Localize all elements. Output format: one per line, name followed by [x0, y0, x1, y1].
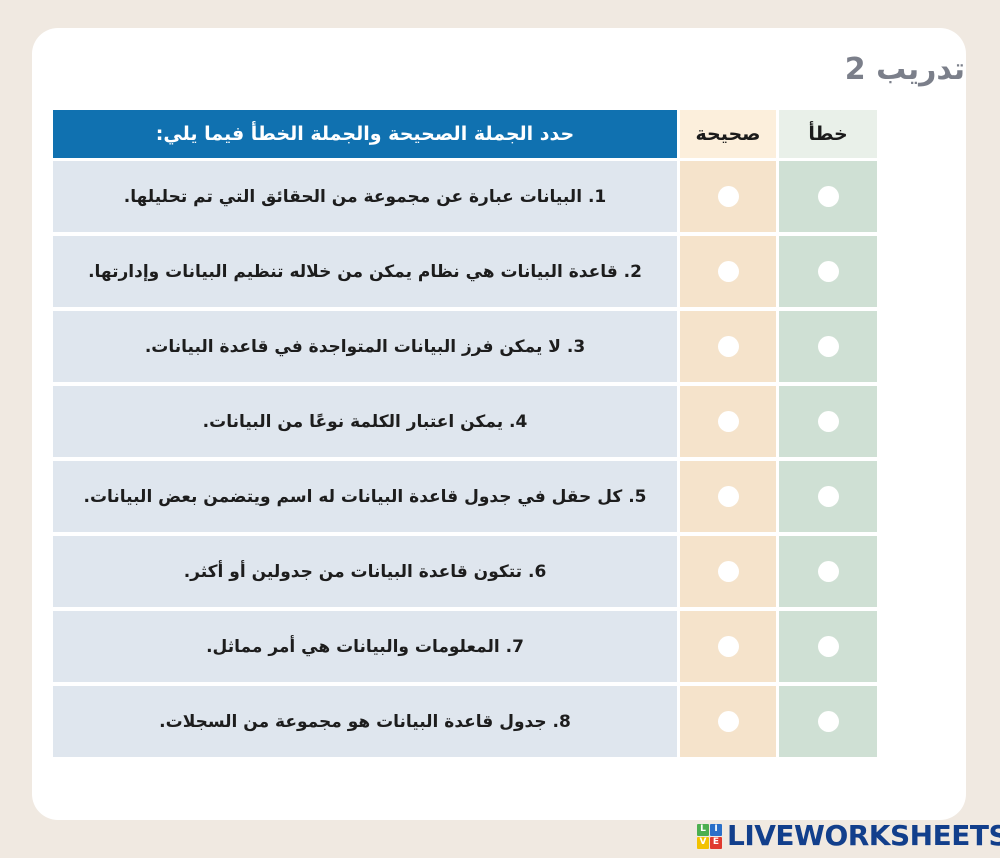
liveworksheets-logo: L I V E LIVEWORKSHEETS	[697, 822, 1000, 850]
radio-correct-7[interactable]	[718, 636, 739, 657]
correct-option-cell[interactable]	[677, 311, 776, 386]
radio-correct-1[interactable]	[718, 186, 739, 207]
radio-wrong-3[interactable]	[818, 336, 839, 357]
column-header-correct: صحيحة	[677, 110, 776, 161]
liveworksheets-logo-tiles: L I V E	[697, 824, 722, 849]
wrong-option-cell[interactable]	[776, 161, 877, 236]
table-row: 3. لا يمكن فرز البيانات المتواجدة في قاع…	[53, 311, 877, 386]
radio-correct-6[interactable]	[718, 561, 739, 582]
table-row: 6. تتكون قاعدة البيانات من جدولين أو أكث…	[53, 536, 877, 611]
radio-correct-5[interactable]	[718, 486, 739, 507]
radio-wrong-4[interactable]	[818, 411, 839, 432]
statement-text: 5. كل حقل في جدول قاعدة البيانات له اسم …	[53, 461, 677, 536]
radio-correct-2[interactable]	[718, 261, 739, 282]
table-row: 4. يمكن اعتبار الكلمة نوعًا من البيانات.	[53, 386, 877, 461]
wrong-option-cell[interactable]	[776, 386, 877, 461]
radio-wrong-6[interactable]	[818, 561, 839, 582]
wrong-option-cell[interactable]	[776, 686, 877, 761]
statements-table: خطأ صحيحة حدد الجملة الصحيحة والجملة الخ…	[53, 110, 877, 761]
logo-tile-i: I	[710, 824, 722, 836]
correct-option-cell[interactable]	[677, 611, 776, 686]
radio-wrong-7[interactable]	[818, 636, 839, 657]
table-header-row: خطأ صحيحة حدد الجملة الصحيحة والجملة الخ…	[53, 110, 877, 161]
correct-option-cell[interactable]	[677, 236, 776, 311]
table-row: 1. البيانات عبارة عن مجموعة من الحقائق ا…	[53, 161, 877, 236]
statement-text: 4. يمكن اعتبار الكلمة نوعًا من البيانات.	[53, 386, 677, 461]
radio-wrong-8[interactable]	[818, 711, 839, 732]
correct-option-cell[interactable]	[677, 386, 776, 461]
table-body: 1. البيانات عبارة عن مجموعة من الحقائق ا…	[53, 161, 877, 761]
radio-wrong-1[interactable]	[818, 186, 839, 207]
column-header-wrong: خطأ	[776, 110, 877, 161]
radio-correct-8[interactable]	[718, 711, 739, 732]
liveworksheets-wordmark: LIVEWORKSHEETS	[727, 822, 1000, 850]
page-title: تدريب 2	[845, 52, 965, 88]
wrong-option-cell[interactable]	[776, 611, 877, 686]
column-header-prompt: حدد الجملة الصحيحة والجملة الخطأ فيما يل…	[53, 110, 677, 161]
table-row: 2. قاعدة البيانات هي نظام يمكن من خلاله …	[53, 236, 877, 311]
statement-text: 3. لا يمكن فرز البيانات المتواجدة في قاع…	[53, 311, 677, 386]
logo-tile-l: L	[697, 824, 709, 836]
correct-option-cell[interactable]	[677, 461, 776, 536]
statement-text: 7. المعلومات والبيانات هي أمر مماثل.	[53, 611, 677, 686]
statement-text: 8. جدول قاعدة البيانات هو مجموعة من السج…	[53, 686, 677, 761]
table-row: 8. جدول قاعدة البيانات هو مجموعة من السج…	[53, 686, 877, 761]
correct-option-cell[interactable]	[677, 161, 776, 236]
radio-wrong-2[interactable]	[818, 261, 839, 282]
wrong-option-cell[interactable]	[776, 311, 877, 386]
wrong-option-cell[interactable]	[776, 236, 877, 311]
table-row: 7. المعلومات والبيانات هي أمر مماثل.	[53, 611, 877, 686]
logo-tile-e: E	[710, 837, 722, 849]
wrong-option-cell[interactable]	[776, 536, 877, 611]
correct-option-cell[interactable]	[677, 536, 776, 611]
statement-text: 6. تتكون قاعدة البيانات من جدولين أو أكث…	[53, 536, 677, 611]
table-row: 5. كل حقل في جدول قاعدة البيانات له اسم …	[53, 461, 877, 536]
correct-option-cell[interactable]	[677, 686, 776, 761]
statement-text: 2. قاعدة البيانات هي نظام يمكن من خلاله …	[53, 236, 677, 311]
wrong-option-cell[interactable]	[776, 461, 877, 536]
logo-tile-v: V	[697, 837, 709, 849]
table-header: خطأ صحيحة حدد الجملة الصحيحة والجملة الخ…	[53, 110, 877, 161]
radio-wrong-5[interactable]	[818, 486, 839, 507]
statement-text: 1. البيانات عبارة عن مجموعة من الحقائق ا…	[53, 161, 677, 236]
radio-correct-3[interactable]	[718, 336, 739, 357]
radio-correct-4[interactable]	[718, 411, 739, 432]
